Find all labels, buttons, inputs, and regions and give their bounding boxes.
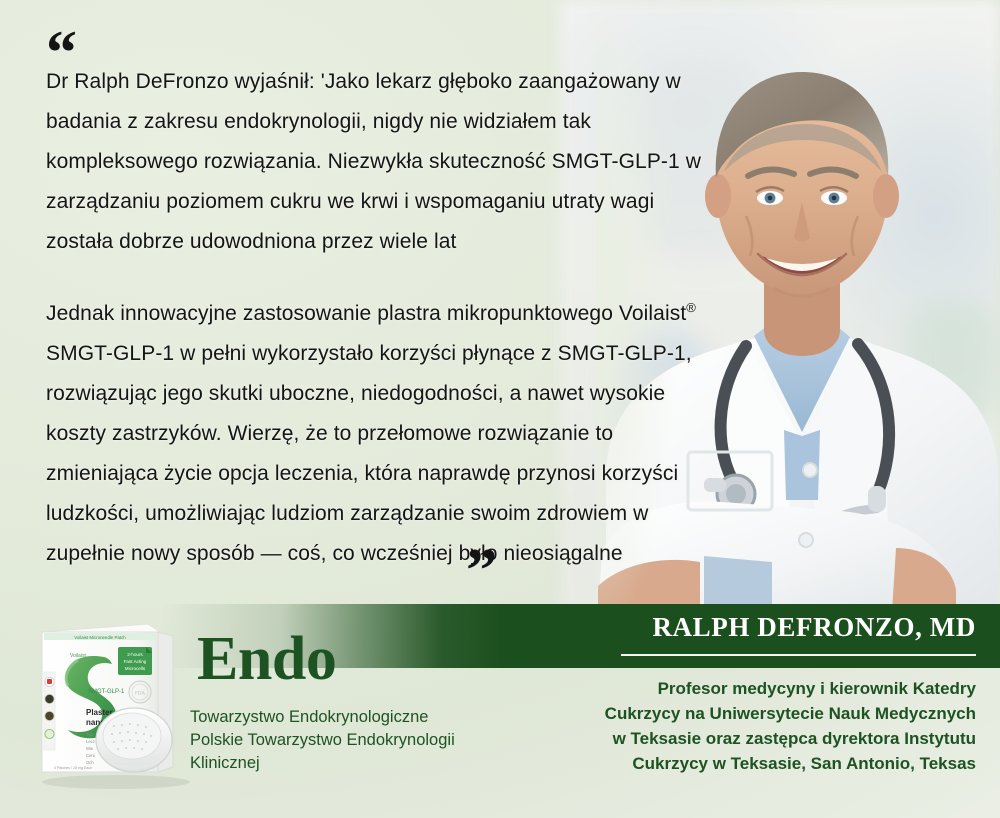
svg-text:Lecz: Lecz: [86, 739, 95, 744]
credential-line-2: Cukrzycy na Uniwersytecie Nauk Medycznyc…: [506, 701, 976, 726]
credential-line-3: w Teksasie oraz zastępca dyrektora Insty…: [506, 726, 976, 751]
society-name: Towarzystwo Endokrynologiczne Polskie To…: [190, 706, 490, 775]
svg-text:FDA: FDA: [135, 692, 145, 697]
credential-line-1: Profesor medycyny i kierownik Katedry: [506, 676, 976, 701]
svg-text:Ceni: Ceni: [86, 753, 95, 758]
society-line-2: Polskie Towarzystwo Endokrynologii: [190, 729, 490, 752]
svg-text:Fast Acting: Fast Acting: [124, 659, 147, 664]
svg-text:SMGT-GLP-1: SMGT-GLP-1: [88, 689, 125, 695]
svg-text:Voilaist Microneedle Patch: Voilaist Microneedle Patch: [74, 635, 126, 640]
svg-text:Typ:: Typ:: [86, 732, 94, 737]
svg-text:Voilaist: Voilaist: [70, 653, 86, 659]
closing-quote-mark: ”: [466, 540, 497, 602]
society-line-1: Towarzystwo Endokrynologiczne: [190, 706, 490, 729]
svg-text:2-hours: 2-hours: [127, 652, 143, 657]
endo-logo-text: Endo: [197, 628, 336, 690]
quote-paragraph-1: Dr Ralph DeFronzo wyjaśnił: 'Jako lekarz…: [46, 62, 718, 262]
svg-text:4 Patches / 28 mg Each: 4 Patches / 28 mg Each: [54, 766, 92, 770]
svg-text:Microcells: Microcells: [125, 666, 146, 671]
society-line-3: Klinicznej: [190, 752, 490, 775]
svg-text:Wie: Wie: [86, 746, 94, 751]
testimonial-poster: “ Dr Ralph DeFronzo wyjaśnił: 'Jako leka…: [0, 0, 1000, 818]
credential-line-4: Cukrzycy w Teksasie, San Antonio, Teksas: [506, 751, 976, 776]
svg-text:Och: Och: [86, 760, 94, 765]
product-box-image: Voilaist Microneedle Patch Voilaist 2-ho…: [30, 612, 205, 792]
doctor-credentials: Profesor medycyny i kierownik Katedry Cu…: [506, 676, 976, 776]
quote-text-block: Dr Ralph DeFronzo wyjaśnił: 'Jako lekarz…: [46, 62, 718, 574]
quote-paragraph-2: Jednak innowacyjne zastosowanie plastra …: [46, 288, 718, 574]
banner-underline: [621, 654, 976, 656]
